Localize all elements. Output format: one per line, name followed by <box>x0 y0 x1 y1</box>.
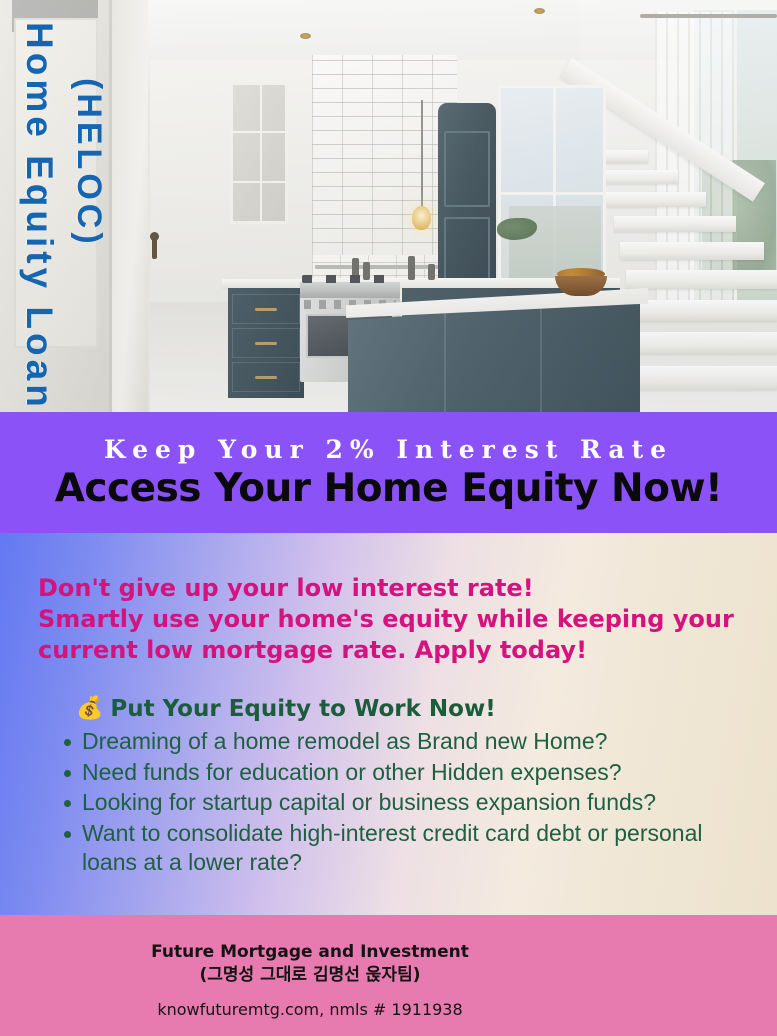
range-cooktop <box>300 282 400 298</box>
stair-step <box>632 332 777 354</box>
banner-title: Access Your Home Equity Now! <box>55 466 723 511</box>
door-handle-icon <box>152 237 157 259</box>
pendant-cord <box>421 100 423 210</box>
footer-section: Future Mortgage and Investment (그명성 그대로 … <box>0 915 777 1036</box>
curtain-rod <box>640 14 777 18</box>
lead-line-2: Smartly use your home's equity while kee… <box>38 604 738 635</box>
cabinet-panel <box>444 131 490 207</box>
banner-kicker: Keep Your 2% Interest Rate <box>104 435 673 464</box>
vertical-heading-line2: (HELOC) <box>69 78 108 248</box>
equity-heading: 💰 Put Your Equity to Work Now! <box>76 696 496 722</box>
equity-heading-label: Put Your Equity to Work Now! <box>110 696 495 722</box>
list-item: Dreaming of a home remodel as Brand new … <box>58 727 758 757</box>
stair-step <box>630 300 777 321</box>
range-burners <box>302 275 398 283</box>
pendant-bulb-icon <box>412 206 431 230</box>
stair-step <box>606 192 706 207</box>
money-bag-icon: 💰 <box>76 698 103 720</box>
drawer-pull <box>255 376 277 379</box>
drawer-pull <box>255 342 277 345</box>
glass-front-cabinet <box>230 82 288 224</box>
vertical-heading-group: Home Equity Loan (HELOC) <box>0 0 150 412</box>
window-mullion <box>501 192 603 195</box>
recessed-light-icon <box>300 33 311 39</box>
list-item: Looking for startup capital or business … <box>58 788 758 818</box>
footer-text-group: Future Mortgage and Investment (그명성 그대로 … <box>0 941 620 1019</box>
stair-step <box>634 366 777 390</box>
body-section: Don't give up your low interest rate! Sm… <box>0 533 777 915</box>
counter-bottle <box>428 264 435 280</box>
recessed-light-icon <box>534 8 545 14</box>
vertical-heading-line1: Home Equity Loan <box>18 22 60 411</box>
heloc-flyer: Home Equity Loan (HELOC) Keep Your 2% In… <box>0 0 777 1036</box>
contact-info: knowfuturemtg.com, nmls # 1911938 <box>0 1000 620 1019</box>
company-name: Future Mortgage and Investment <box>0 941 620 963</box>
company-name-korean: (그명성 그대로 김명선 욵자팀) <box>0 963 620 987</box>
list-item: Want to consolidate high-interest credit… <box>58 819 758 878</box>
stair-step <box>620 242 764 260</box>
stair-step <box>614 216 736 232</box>
purple-banner: Keep Your 2% Interest Rate Access Your H… <box>0 412 777 533</box>
lead-line-1: Don't give up your low interest rate! <box>38 573 738 604</box>
benefit-list: Dreaming of a home remodel as Brand new … <box>58 727 758 879</box>
list-item: Need funds for education or other Hidden… <box>58 758 758 788</box>
lead-line-3: current low mortgage rate. Apply today! <box>38 635 738 666</box>
stair-step <box>598 170 678 184</box>
counter-utensil <box>408 256 415 280</box>
island-panel-seam <box>540 300 542 412</box>
cabinet-shelf <box>233 181 285 183</box>
drawer-pull <box>255 308 277 311</box>
lead-paragraph: Don't give up your low interest rate! Sm… <box>38 573 738 666</box>
hero-section: Home Equity Loan (HELOC) <box>0 0 777 412</box>
subway-tile-backsplash <box>312 55 457 285</box>
left-base-cabinets <box>228 288 304 398</box>
island-panel-seam <box>444 300 446 412</box>
stair-step <box>626 270 777 289</box>
